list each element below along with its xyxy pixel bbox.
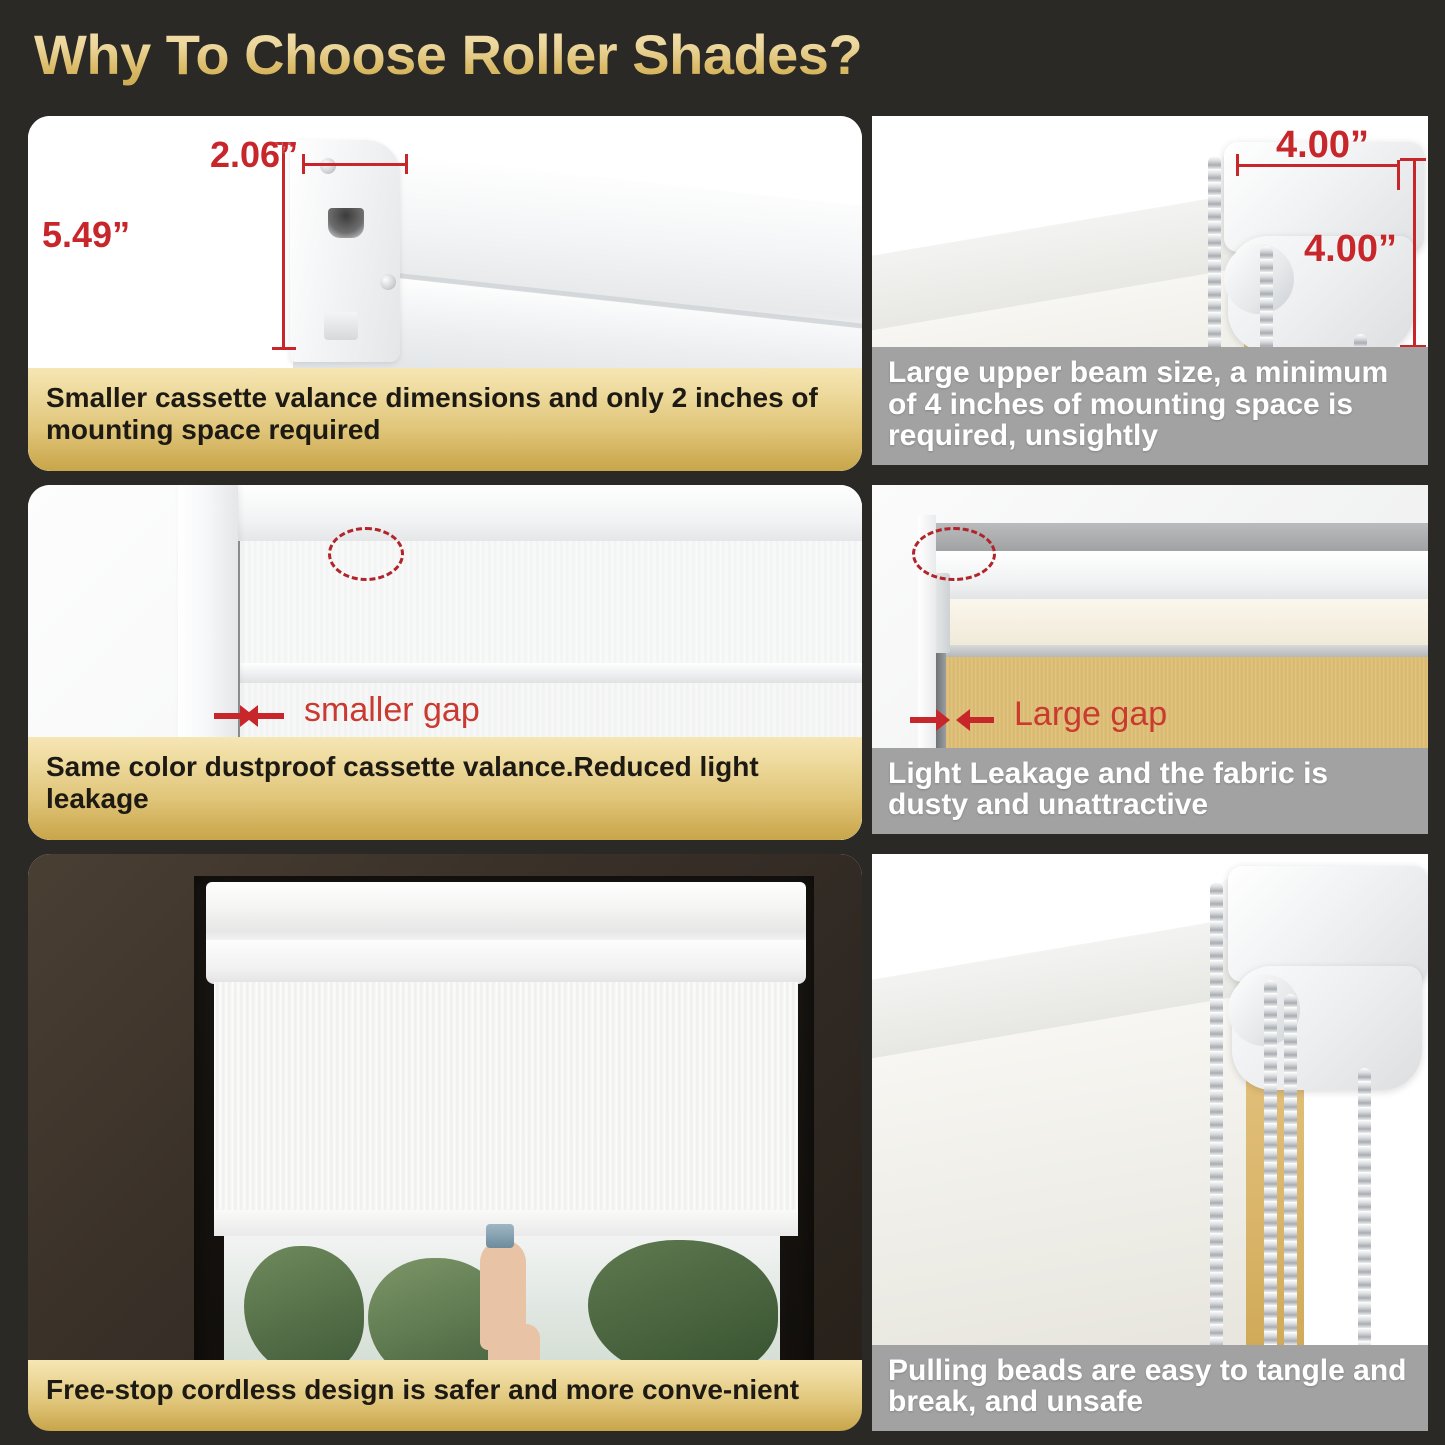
width-dimension-line (302, 163, 408, 166)
beam-height-line (1413, 158, 1416, 348)
caption-light-leakage: Light Leakage and the fabric is dusty an… (872, 748, 1428, 834)
comparison-grid: 2.06” 5.49” Smaller cassette valance dim… (0, 104, 1445, 1445)
panel-pulling-beads: Pulling beads are easy to tangle and bre… (872, 854, 1428, 1431)
bead-chain-3 (1284, 994, 1297, 1352)
roller-bracket-upper (1228, 866, 1428, 982)
width-dimension-tick-right (405, 154, 408, 174)
gap-highlight-ellipse (912, 527, 996, 581)
caption-dustproof-cassette-valance: Same color dustproof cassette valance.Re… (28, 737, 862, 840)
panel-free-stop-cordless-design: Free-stop cordless design is safer and m… (28, 854, 862, 1431)
beam-width-label: 4.00” (1276, 124, 1369, 167)
gap-arrow-right-head (244, 705, 258, 727)
caption-large-upper-beam: Large upper beam size, a minimum of 4 in… (872, 347, 1428, 465)
bead-chain-4 (1358, 1068, 1371, 1352)
gap-arrow-right-head (956, 709, 970, 731)
bead-chain-2 (1264, 980, 1277, 1352)
panel-dustproof-cassette-valance: smaller gap Same color dustproof cassett… (28, 485, 862, 840)
beam-height-label: 4.00” (1304, 228, 1397, 271)
beam-width-tick-right (1397, 160, 1400, 190)
gap-arrow-left-head (936, 709, 950, 731)
height-dimension-label: 5.49” (42, 214, 130, 256)
panel-cassette-valance-dimensions: 2.06” 5.49” Smaller cassette valance dim… (28, 116, 862, 471)
gap-arrow-left-stem (910, 717, 938, 723)
gap-arrow-left-stem (214, 713, 242, 719)
beam-height-tick-top (1400, 158, 1426, 161)
width-dimension-label: 2.06” (210, 134, 298, 176)
gap-arrow-right-stem (256, 713, 284, 719)
gap-highlight-ellipse (328, 527, 404, 581)
cassette-valance (206, 882, 806, 948)
bead-chain-1 (1210, 882, 1223, 1352)
beam-width-tick-left (1236, 154, 1239, 176)
smaller-gap-label: smaller gap (304, 691, 480, 730)
caption-free-stop-cordless-design: Free-stop cordless design is safer and m… (28, 1360, 862, 1431)
panel-large-upper-beam: 4.00” 4.00” Large upper beam size, a min… (872, 116, 1428, 465)
caption-cassette-valance-dimensions: Smaller cassette valance dimensions and … (28, 368, 862, 471)
width-dimension-tick-left (302, 154, 305, 174)
caption-pulling-beads: Pulling beads are easy to tangle and bre… (872, 1345, 1428, 1431)
page-title: Why To Choose Roller Shades? (34, 22, 1034, 88)
infographic-page: Why To Choose Roller Shades? (0, 0, 1445, 1445)
shade-pull-tab (486, 1224, 514, 1248)
large-gap-label: Large gap (1014, 695, 1167, 734)
panel-light-leakage: Large gap Light Leakage and the fabric i… (872, 485, 1428, 834)
photo-room-window (28, 854, 862, 1431)
roller-shade-fabric (214, 982, 798, 1234)
height-dimension-tick-bottom (272, 347, 296, 350)
